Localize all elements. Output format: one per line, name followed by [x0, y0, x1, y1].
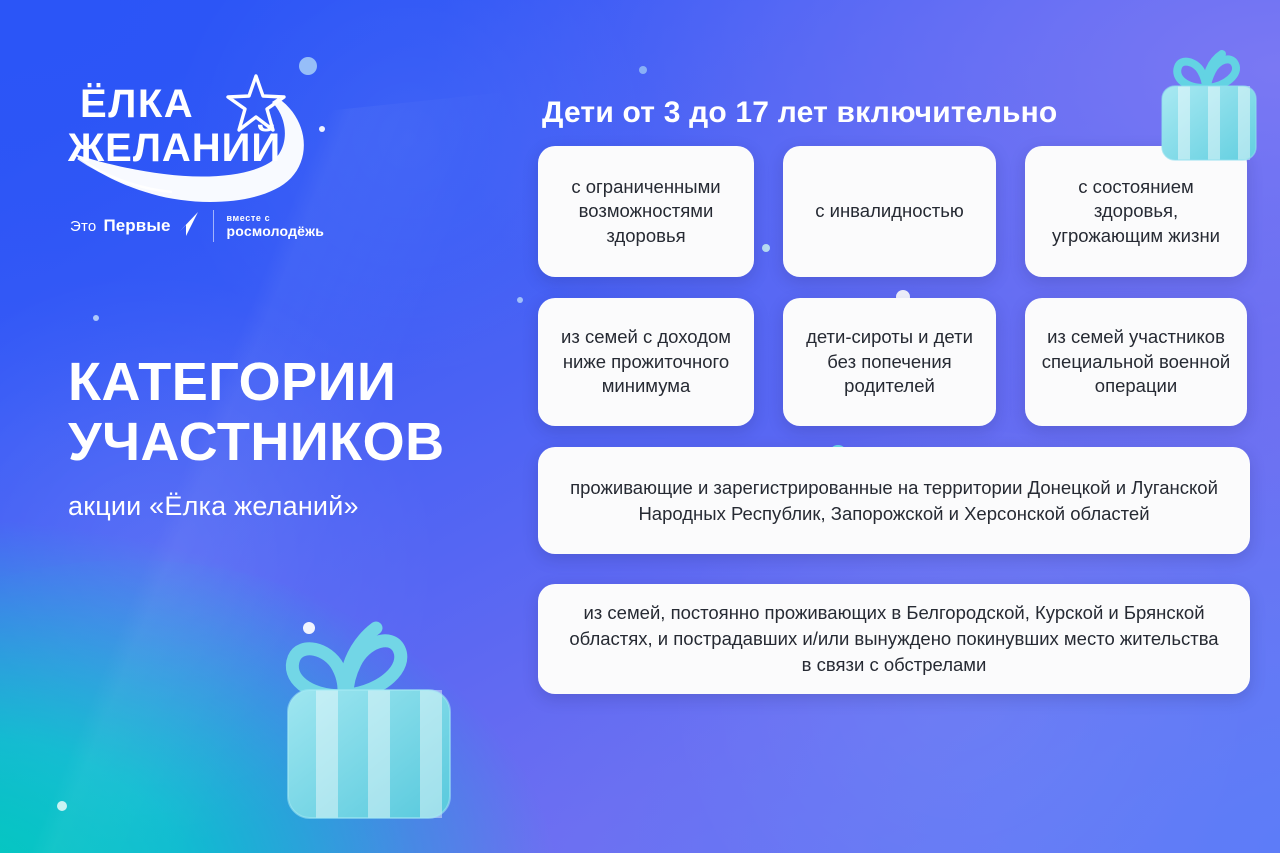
category-card-wide: проживающие и зарегистрированные на терр… — [538, 447, 1250, 554]
rosmolodezh-logo: вместе с росмолодёжь — [227, 213, 325, 239]
category-row-3: проживающие и зарегистрированные на терр… — [538, 447, 1253, 554]
partner-logos: Это Первые вместе с росмолодёжь — [70, 210, 360, 242]
category-card: с состоянием здоровья, угрожающим жизни — [1025, 146, 1247, 277]
category-card-wide: из семей, постоянно проживающих в Белгор… — [538, 584, 1250, 694]
category-row-2: из семей с доходом ниже прожиточного мин… — [538, 298, 1253, 426]
decorative-dot — [639, 66, 647, 74]
category-card: с инвалидностью — [783, 146, 996, 277]
age-range-title: Дети от 3 до 17 лет включительно — [542, 96, 1253, 130]
decorative-dot — [517, 297, 523, 303]
svg-text:ЁЛКА: ЁЛКА — [80, 82, 194, 126]
svg-text:ЖЕЛАНИЙ: ЖЕЛАНИЙ — [67, 124, 281, 170]
page-title-line1: КАТЕГОРИИ — [68, 352, 528, 412]
decorative-dot — [303, 622, 315, 634]
category-card: с ограниченными возможностями здоровья — [538, 146, 754, 277]
categories-panel: Дети от 3 до 17 лет включительно с огран… — [538, 96, 1253, 724]
category-row-4: из семей, постоянно проживающих в Белгор… — [538, 584, 1253, 694]
page-subtitle: акции «Ёлка желаний» — [68, 491, 528, 522]
pervye-logo: Это Первые — [70, 211, 200, 242]
decorative-dot — [57, 801, 67, 811]
background-glow — [0, 250, 460, 853]
decorative-dot — [93, 315, 99, 321]
elka-zhelaniy-logo-icon: ЁЛКА ЖЕЛАНИЙ — [60, 58, 340, 198]
brand-logo: ЁЛКА ЖЕЛАНИЙ Это Первые вместе с росмоло… — [60, 58, 360, 242]
category-row-1: с ограниченными возможностями здоровья с… — [538, 146, 1253, 277]
category-card: из семей участников специальной военной … — [1025, 298, 1247, 426]
divider — [213, 210, 214, 242]
gift-box-icon — [258, 598, 478, 833]
category-card: из семей с доходом ниже прожиточного мин… — [538, 298, 754, 426]
pervye-eto-label: Это — [70, 218, 96, 235]
pervye-name-label: Первые — [103, 216, 170, 236]
rosmolodezh-top-label: вместе с — [227, 213, 325, 223]
page-title: КАТЕГОРИИ УЧАСТНИКОВ акции «Ёлка желаний… — [68, 352, 528, 522]
page-title-line2: УЧАСТНИКОВ — [68, 412, 528, 472]
pervye-arrow-icon — [178, 211, 200, 242]
background-glow-teal — [0, 560, 480, 853]
category-card: дети-сироты и дети без попечения родител… — [783, 298, 996, 426]
rosmolodezh-name-label: росмолодёжь — [227, 223, 325, 239]
poster-root: ЁЛКА ЖЕЛАНИЙ Это Первые вместе с росмоло… — [0, 0, 1280, 853]
